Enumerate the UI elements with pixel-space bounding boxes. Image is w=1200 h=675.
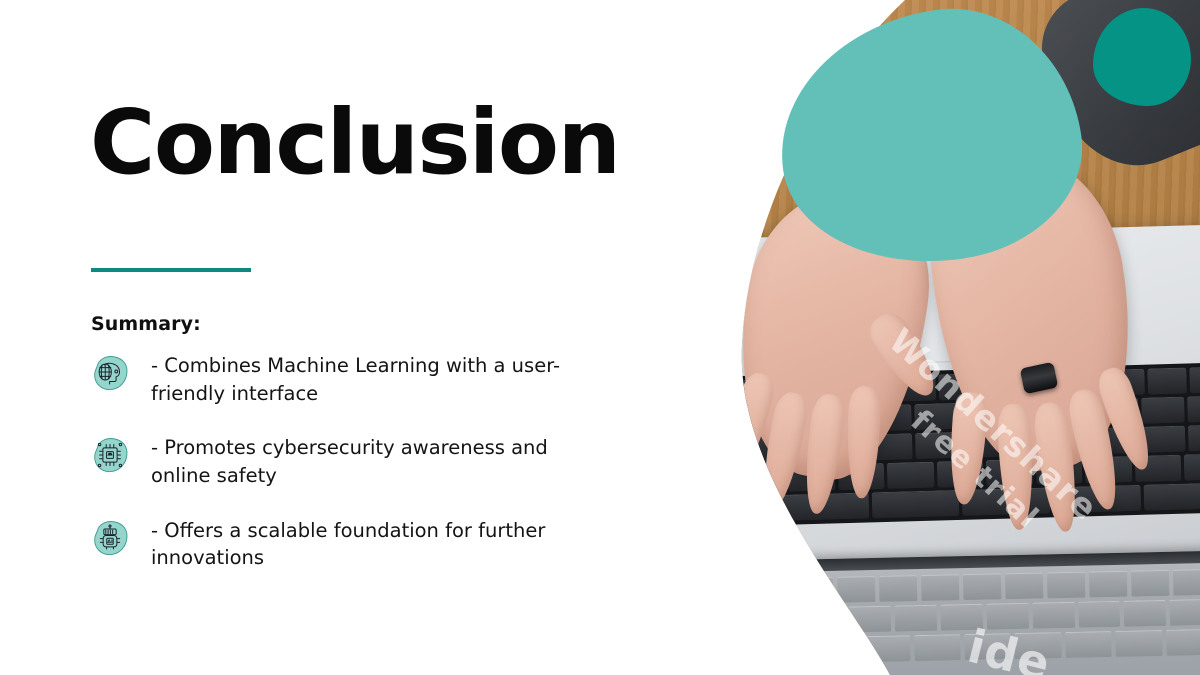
lower-key xyxy=(837,576,876,603)
key xyxy=(1142,426,1185,453)
lower-key xyxy=(849,606,891,633)
list-item: - Promotes cybersecurity awareness and o… xyxy=(91,434,611,489)
ai-robot-chip-icon: AI xyxy=(91,519,129,557)
lower-key xyxy=(1078,601,1120,628)
key xyxy=(1144,482,1200,510)
key xyxy=(914,403,957,430)
microchip-icon xyxy=(91,436,129,474)
lower-key xyxy=(1047,572,1086,599)
lower-key xyxy=(712,609,754,636)
lower-key xyxy=(1115,630,1162,657)
list-item-label: - Offers a scalable foundation for furth… xyxy=(151,517,581,572)
key xyxy=(1184,453,1200,480)
lower-key xyxy=(1131,570,1170,597)
key-row xyxy=(700,482,1200,523)
key xyxy=(1189,366,1200,393)
key xyxy=(700,409,730,436)
lower-key xyxy=(795,577,834,604)
key xyxy=(1141,397,1184,424)
lower-key xyxy=(1032,602,1074,629)
page-title: Conclusion xyxy=(90,98,619,187)
lower-key xyxy=(986,603,1028,630)
slide-root: Wondershare free trial ide Conclusion Su… xyxy=(0,0,1200,675)
lower-key xyxy=(803,607,845,634)
key xyxy=(700,438,731,465)
key xyxy=(700,380,726,407)
key xyxy=(1188,424,1200,451)
lower-key xyxy=(914,634,961,661)
list-item: AI - Offers a scalable foundation for fu… xyxy=(91,517,611,572)
title-divider xyxy=(91,268,251,272)
lower-key xyxy=(964,633,1011,660)
key xyxy=(871,490,960,518)
lower-key xyxy=(1005,572,1044,599)
lower-key xyxy=(1173,569,1200,596)
lower-key xyxy=(763,637,810,664)
lower-key xyxy=(1124,600,1166,627)
brain-head-icon xyxy=(91,354,129,392)
laptop-lower-body xyxy=(700,550,1200,675)
svg-text:AI: AI xyxy=(107,539,113,545)
lower-key xyxy=(1065,631,1112,658)
key xyxy=(1187,395,1200,422)
list-item-label: - Promotes cybersecurity awareness and o… xyxy=(151,434,581,489)
key xyxy=(700,495,778,523)
lower-key xyxy=(711,579,750,606)
list-item-label: - Combines Machine Learning with a user-… xyxy=(151,352,581,407)
key xyxy=(1147,368,1187,395)
lower-key-row xyxy=(712,629,1200,665)
lower-key xyxy=(1089,571,1128,598)
lower-key xyxy=(895,605,937,632)
summary-heading: Summary: xyxy=(91,313,201,335)
lower-key xyxy=(1015,632,1062,659)
lower-key xyxy=(879,575,918,602)
lower-key xyxy=(1170,599,1200,626)
lower-key xyxy=(1166,629,1200,656)
lower-key xyxy=(963,573,1002,600)
lower-key xyxy=(941,604,983,631)
list-item: - Combines Machine Learning with a user-… xyxy=(91,352,611,407)
lower-key xyxy=(863,635,910,662)
lower-key xyxy=(712,638,759,665)
lower-key xyxy=(813,636,860,663)
key xyxy=(887,462,934,489)
summary-bullet-list: - Combines Machine Learning with a user-… xyxy=(91,352,611,599)
lower-keyboard xyxy=(711,569,1200,665)
lower-key xyxy=(757,608,799,635)
lower-key xyxy=(753,578,792,605)
lower-key xyxy=(921,574,960,601)
key xyxy=(700,467,736,494)
